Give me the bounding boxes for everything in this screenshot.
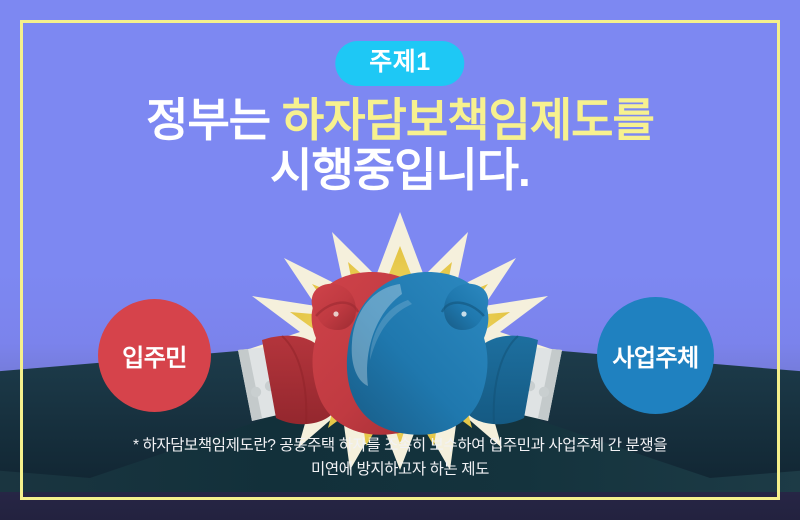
footnote-line-2: 미연에 방지하고자 하는 제도 bbox=[60, 458, 740, 482]
label-circle-resident-text: 입주민 bbox=[122, 338, 187, 373]
label-circle-resident: 입주민 bbox=[98, 299, 211, 412]
label-circle-business-text: 사업주체 bbox=[612, 338, 698, 373]
headline-line-1-accent: 하자담보책임제도를 bbox=[282, 94, 654, 146]
infographic-canvas: 주제1 정부는 하자담보책임제도를 시행중입니다. 입주민 사업주체 * 하자담… bbox=[0, 0, 800, 520]
topic-badge: 주제1 bbox=[335, 41, 464, 86]
starburst-impact bbox=[240, 212, 560, 470]
headline-line-1-plain: 정부는 bbox=[146, 94, 282, 146]
footnote-line-1: * 하자담보책임제도란? 공동주택 하자를 조속히 보수하여 입주민과 사업주체… bbox=[60, 434, 740, 458]
decorative-frame bbox=[20, 20, 780, 500]
page-title: 정부는 하자담보책임제도를 시행중입니다. bbox=[0, 96, 800, 195]
headline-line-1: 정부는 하자담보책임제도를 bbox=[0, 96, 800, 146]
label-circle-business: 사업주체 bbox=[597, 297, 714, 414]
headline-line-2: 시행중입니다. bbox=[0, 146, 800, 196]
footnote: * 하자담보책임제도란? 공동주택 하자를 조속히 보수하여 입주민과 사업주체… bbox=[60, 434, 740, 482]
